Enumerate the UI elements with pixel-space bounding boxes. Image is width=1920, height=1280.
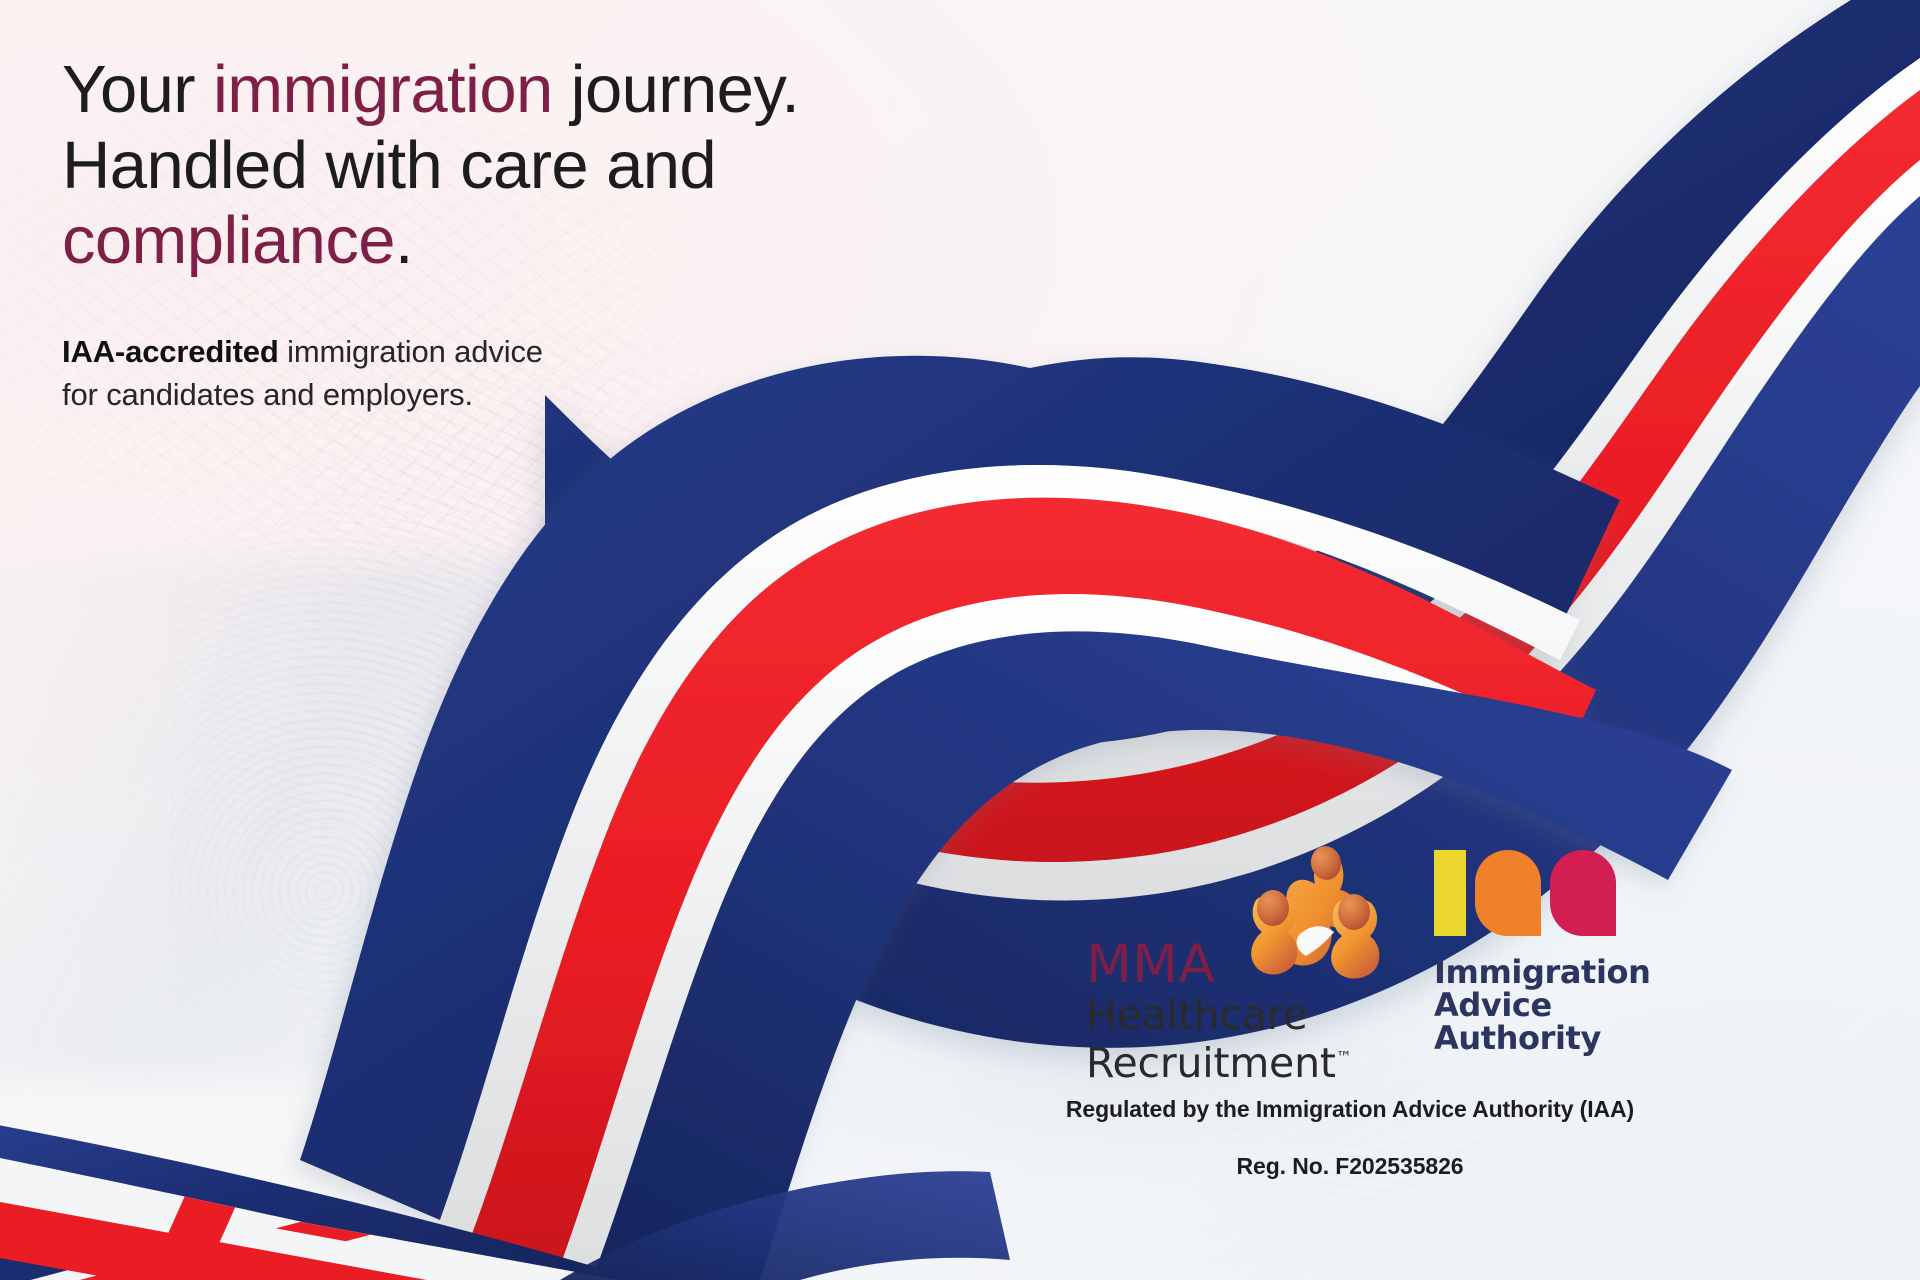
mma-abbreviation: MMA [1086,938,1326,991]
iaa-letter-a-pink [1550,850,1616,936]
immigration-banner: Your immigration journey. Handled with c… [0,0,1920,1280]
regulatory-footer: Regulated by the Immigration Advice Auth… [840,1096,1860,1180]
headline-block: Your immigration journey. Handled with c… [62,52,942,417]
page-title: Your immigration journey. Handled with c… [62,52,942,279]
headline-accent-immigration: immigration [213,52,553,127]
logo-lockup: MMA Healthcare Recruitment™ Immigration … [1086,848,1842,1108]
headline-part-1: Your [62,52,213,127]
subheadline: IAA-accredited immigration advice for ca… [62,331,942,417]
mma-word-healthcare: Healthcare [1086,993,1326,1039]
iaa-letter-a-orange [1475,850,1541,936]
mma-word-recruitment: Recruitment [1086,1039,1336,1087]
mma-word-recruitment-row: Recruitment™ [1086,1041,1326,1087]
subheadline-strong: IAA-accredited [62,334,279,369]
registration-number: Reg. No. F202535826 [840,1153,1860,1180]
headline-part-3: . [395,203,413,278]
immigration-advice-authority-logo: Immigration Advice Authority [1434,848,1702,1092]
regulatory-statement: Regulated by the Immigration Advice Auth… [840,1096,1860,1123]
iaa-blocks-icon [1434,848,1702,936]
mma-healthcare-recruitment-logo: MMA Healthcare Recruitment™ [1086,848,1382,1092]
headline-accent-compliance: compliance [62,203,395,278]
figure-left-head [1257,890,1289,926]
mma-wordmark: MMA Healthcare Recruitment™ [1086,938,1326,1087]
iaa-letter-i-bar [1434,850,1466,936]
trademark-symbol: ™ [1336,1047,1352,1066]
iaa-wordmark: Immigration Advice Authority [1434,956,1702,1055]
figure-right-head [1338,894,1370,930]
